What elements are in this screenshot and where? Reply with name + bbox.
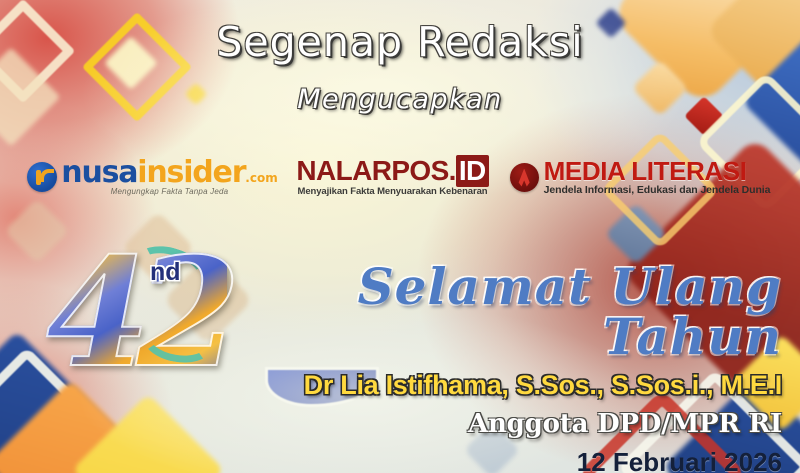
nalarpos-word-part-2: ID [456, 155, 489, 187]
headline-secondary: Mengucapkan [0, 84, 800, 115]
nalarpos-word-part-1: NALARPOS. [296, 155, 456, 186]
medialiterasi-mark-icon [510, 163, 539, 192]
greeting-script-line: Selamat Ulang Tahun [252, 262, 782, 362]
medialiterasi-word-part-2: LITERASI [631, 156, 746, 186]
logo-row: nusainsider.com Mengungkap Fakta Tanpa J… [0, 146, 800, 208]
greeting-date: 12 Februari 2026 [252, 447, 782, 473]
medialiterasi-wordmark: MEDIA LITERASI [544, 158, 771, 184]
logo-nalarpos: NALARPOS.ID Menyajikan Fakta Menyuarakan… [293, 157, 493, 197]
medialiterasi-tagline: Jendela Informasi, Edukasi dan Jendela D… [544, 185, 771, 196]
honoree-role: Anggota DPD/MPR RI [252, 409, 782, 439]
badge-number: 42 [46, 238, 227, 388]
nusainsider-word-part-1: nusa [61, 155, 137, 190]
logo-medialiterasi: MEDIA LITERASI Jendela Informasi, Edukas… [503, 158, 778, 196]
greeting-block: Selamat Ulang Tahun Dr Lia Istifhama, S.… [252, 262, 782, 473]
medialiterasi-word-part-1: MEDIA [544, 156, 625, 186]
nalarpos-wordmark: NALARPOS.ID [296, 157, 488, 185]
headline-primary: Segenap Redaksi [0, 18, 800, 66]
nusainsider-word-part-2: insider [137, 155, 245, 190]
nalarpos-tagline: Menyajikan Fakta Menyuarakan Kebenaran [298, 186, 488, 197]
nusainsider-wordmark: nusainsider.com [61, 159, 277, 187]
nusainsider-word-suffix: .com [245, 171, 277, 185]
greeting-banner: Segenap Redaksi Mengucapkan nusainsider.… [0, 0, 800, 473]
nusainsider-text: nusainsider.com Mengungkap Fakta Tanpa J… [61, 159, 277, 195]
honoree-name: Dr Lia Istifhama, S.Sos., S.Sos.i., M.E.… [252, 370, 782, 401]
logo-nusainsider: nusainsider.com Mengungkap Fakta Tanpa J… [23, 159, 283, 195]
medialiterasi-text: MEDIA LITERASI Jendela Informasi, Edukas… [544, 158, 771, 196]
badge-ordinal-suffix: nd [150, 258, 181, 287]
nusainsider-mark-icon [27, 162, 57, 192]
